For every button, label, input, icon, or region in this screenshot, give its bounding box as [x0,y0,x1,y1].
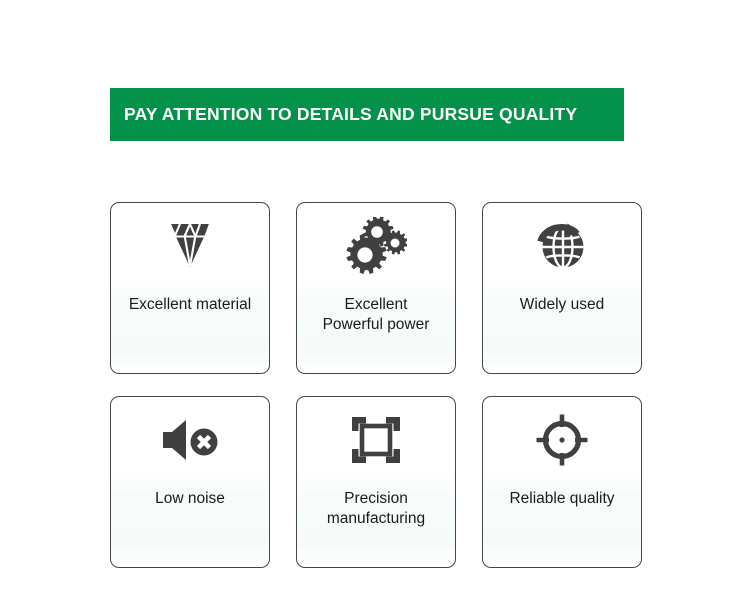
feature-card-label: Widely used [483,289,641,373]
feature-highlights-page: PAY ATTENTION TO DETAILS AND PURSUE QUAL… [0,0,750,601]
speaker-mute-icon [111,397,269,483]
feature-card-label: Precision manufacturing [297,483,455,567]
feature-card-reliable-quality[interactable]: Reliable quality [482,396,642,568]
feature-card-label: Reliable quality [483,483,641,567]
feature-card-excellent-material[interactable]: Excellent material [110,202,270,374]
gears-icon [297,203,455,289]
diamond-icon [111,203,269,289]
feature-card-low-noise[interactable]: Low noise [110,396,270,568]
globe-arrow-icon [483,203,641,289]
feature-card-precision-manufacturing[interactable]: Precision manufacturing [296,396,456,568]
feature-card-label: Excellent material [111,289,269,373]
feature-card-widely-used[interactable]: Widely used [482,202,642,374]
crop-frame-icon [297,397,455,483]
section-banner: PAY ATTENTION TO DETAILS AND PURSUE QUAL… [110,88,624,141]
feature-card-grid: Excellent material [110,202,642,568]
feature-card-label: Excellent Powerful power [297,289,455,373]
crosshair-target-icon [483,397,641,483]
feature-card-label: Low noise [111,483,269,567]
feature-card-excellent-powerful-power[interactable]: Excellent Powerful power [296,202,456,374]
banner-title: PAY ATTENTION TO DETAILS AND PURSUE QUAL… [110,104,577,125]
